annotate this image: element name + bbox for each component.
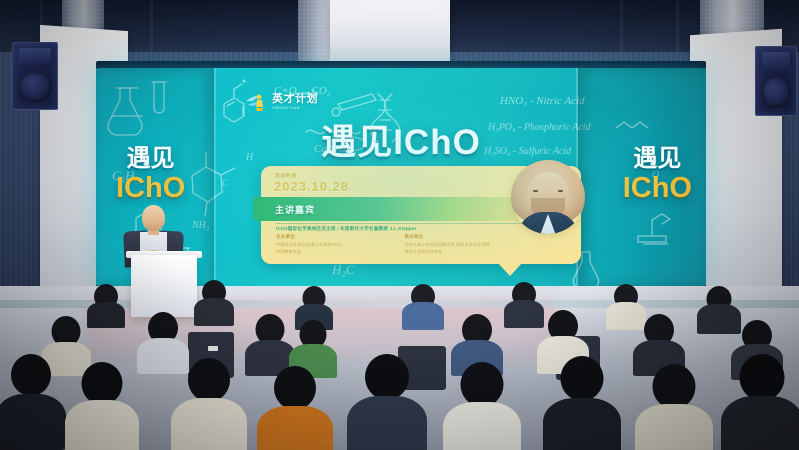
organizer-heading: 主办单位: [276,234,379,240]
side-title-cn-left: 遇见 [116,146,185,171]
brand-logo: 英才计划 YINGCAI PLAN [244,92,318,112]
svg-text:HNO₃ - Nitric Acid: HNO₃ - Nitric Acid [499,95,585,107]
audience-member [352,354,422,450]
audience-member [88,284,124,328]
loudspeaker-left [12,42,58,110]
host-heading: 承办单位: [405,234,508,240]
audience-member [0,354,62,450]
host-line-1: 北京市青少年科技创新学院 南开大学化学学院 [405,242,508,249]
audience-member [404,284,442,330]
side-title-cn-right: 遇见 [623,146,692,171]
audience-member [700,286,738,334]
speaker-portrait-avatar [511,160,585,234]
audience-member [262,366,328,450]
audience-member [448,362,516,450]
screen-main-title: 遇见IChO [321,114,481,165]
star-person-icon [244,92,268,112]
info-card-date: 2023.10.28 [274,179,349,194]
screen-side-title-right: 遇见 IChO [623,146,692,204]
wall-panel-center [330,0,450,62]
side-title-en-right: IChO [623,173,692,203]
audience-member [608,284,644,330]
audience-member [140,312,186,374]
loudspeaker-right [755,46,797,116]
info-card-green-banner: 主讲嘉宾 [253,197,541,221]
audience-member [640,364,708,450]
audience-member [506,282,542,328]
screenshot-root: C₆H₆ NH₂ H C C H₂C C+O₂→CO₂ Ca(OH)₂ CaCl… [0,0,799,450]
audience-member [726,354,798,450]
audience-member [548,356,616,450]
brand-name-cn: 英才计划 [272,94,318,105]
organizer-line-1: 中国科学技术协会(青少年科技中心) [276,242,379,249]
audience-member [176,358,242,450]
svg-text:NH₂: NH₂ [191,220,210,231]
info-card-speaker-line: IChO国际化学奥林匹克主席 / 布里斯托大学名誉教授 J.L.Klepper [276,223,531,232]
svg-text:H₂SO₄ - Sulfuric Acid: H₂SO₄ - Sulfuric Acid [483,146,572,157]
info-card-section-label: 主讲嘉宾 [275,203,315,216]
side-title-en-left: IChO [116,173,185,203]
brand-name-en: YINGCAI PLAN [272,107,318,110]
audience-member [196,280,232,326]
screen-side-title-left: 遇见 IChO [116,146,185,204]
audience-seating [0,250,799,450]
svg-text:C: C [222,178,229,188]
svg-text:H: H [245,152,254,163]
audience-member [70,362,134,450]
